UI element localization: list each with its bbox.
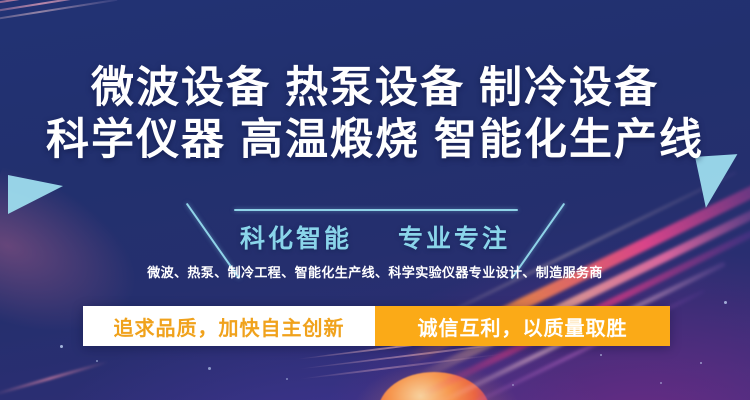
triangle-right-icon-left — [8, 175, 63, 214]
slogan-bar-right: 诚信互利，以质量取胜 — [375, 306, 670, 346]
sub-lead-block: 科化智能 专业专注 — [0, 219, 750, 255]
light-streak-bottom-left — [0, 361, 108, 397]
headline-line-1: 微波设备 热泵设备 制冷设备 — [0, 62, 750, 114]
frame-edge-top — [234, 209, 518, 211]
headline-line-2: 科学仪器 高温煅烧 智能化生产线 — [0, 114, 750, 166]
promo-banner: 微波设备 热泵设备 制冷设备 科学仪器 高温煅烧 智能化生产线 科化智能 专业专… — [0, 0, 750, 400]
slogan-bars: 追求品质，加快自主创新 诚信互利，以质量取胜 — [83, 306, 670, 346]
headline-block: 微波设备 热泵设备 制冷设备 科学仪器 高温煅烧 智能化生产线 — [0, 62, 750, 166]
slogan-bar-left: 追求品质，加快自主创新 — [83, 306, 375, 346]
sub-lead-right: 专业专注 — [398, 225, 510, 253]
sub-lead-left: 科化智能 — [240, 225, 352, 253]
description-line: 微波、热泵、制冷工程、智能化生产线、科学实验仪器专业设计、制造服务商 — [0, 262, 750, 281]
